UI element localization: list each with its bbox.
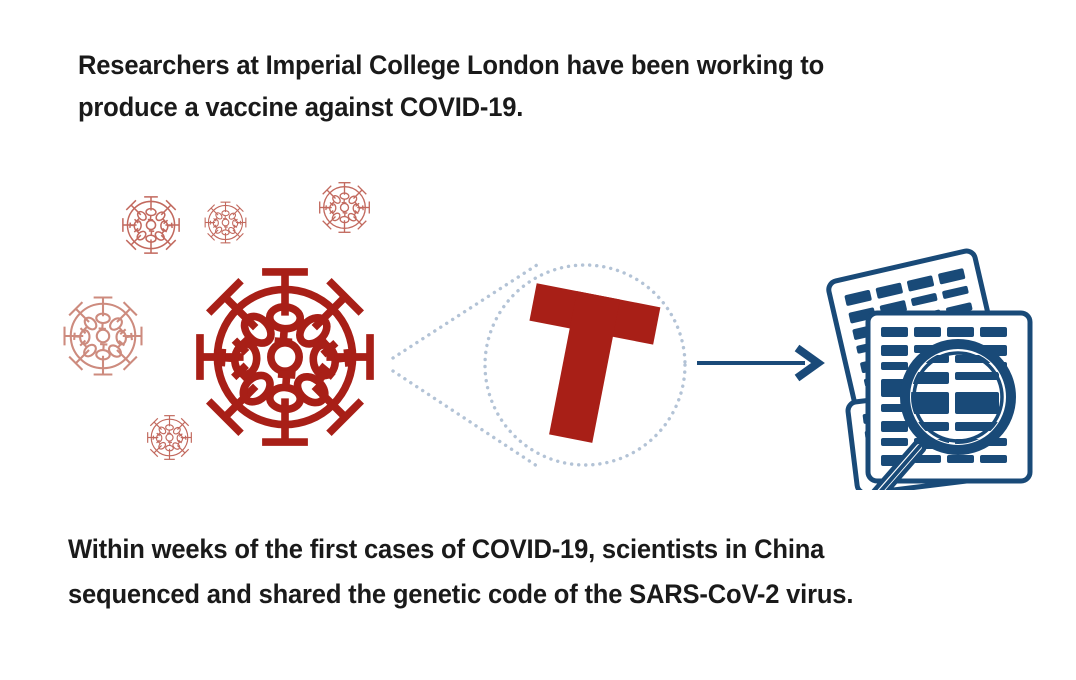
coronavirus-particle-small-2 [205, 202, 246, 243]
coronavirus-particle-small-1 [123, 197, 179, 253]
coronavirus-particle-small-3 [320, 183, 370, 233]
bottom-caption-line-2: sequenced and shared the genetic code of… [68, 572, 1014, 617]
coronavirus-particle-small-4 [148, 416, 192, 460]
bottom-caption-line-1: Within weeks of the first cases of COVID… [68, 527, 1014, 572]
bottom-caption: Within weeks of the first cases of COVID… [68, 527, 1048, 617]
magnified-spike-glyph [509, 283, 661, 450]
covid-sequencing-illustration [0, 150, 1076, 490]
top-caption-line-1: Researchers at Imperial College London h… [78, 44, 975, 86]
top-caption: Researchers at Imperial College London h… [78, 44, 1008, 128]
process-arrow [697, 348, 818, 378]
coronavirus-particle-main [200, 272, 370, 442]
infographic-canvas: Researchers at Imperial College London h… [0, 0, 1076, 680]
top-caption-line-2: produce a vaccine against COVID-19. [78, 86, 975, 128]
magnifier-cone [393, 263, 540, 468]
coronavirus-particle-pale-large [65, 298, 142, 375]
